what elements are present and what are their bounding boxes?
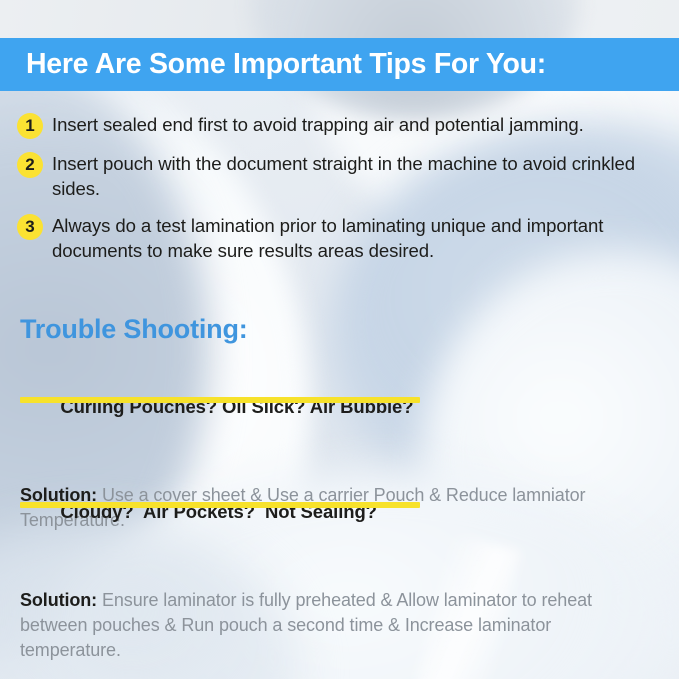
header-banner: Here Are Some Important Tips For You: <box>0 38 679 91</box>
list-item: 3 Always do a test lamination prior to l… <box>0 213 679 263</box>
tip-text: Insert sealed end first to avoid trappin… <box>52 112 584 137</box>
yellow-underline-highlight <box>20 502 420 508</box>
number-badge-icon: 2 <box>17 152 43 178</box>
troubleshooting-question: Cloudy? Air Pockets? Not Sealing? <box>20 479 377 567</box>
tip-text: Always do a test lamination prior to lam… <box>52 213 646 263</box>
list-item: 1 Insert sealed end first to avoid trapp… <box>0 112 679 139</box>
number-badge-icon: 1 <box>17 113 43 139</box>
infographic-page: Here Are Some Important Tips For You: 1 … <box>0 0 679 679</box>
solution-label: Solution: <box>20 590 97 610</box>
background-top-band <box>0 0 679 40</box>
troubleshooting-solution: Solution: Ensure laminator is fully preh… <box>20 588 645 663</box>
troubleshooting-heading: Trouble Shooting: <box>20 314 248 345</box>
tips-list: 1 Insert sealed end first to avoid trapp… <box>0 112 679 275</box>
yellow-underline-highlight <box>20 397 420 403</box>
troubleshooting-entry: Cloudy? Air Pockets? Not Sealing? Soluti… <box>20 479 660 663</box>
page-title: Here Are Some Important Tips For You: <box>26 48 546 81</box>
solution-text: Ensure laminator is fully preheated & Al… <box>20 590 592 660</box>
troubleshooting-question: Curling Pouches? Oil Slick? Air Bubble? <box>20 374 413 462</box>
number-badge-icon: 3 <box>17 214 43 240</box>
tip-text: Insert pouch with the document straight … <box>52 151 646 201</box>
list-item: 2 Insert pouch with the document straigh… <box>0 151 679 201</box>
